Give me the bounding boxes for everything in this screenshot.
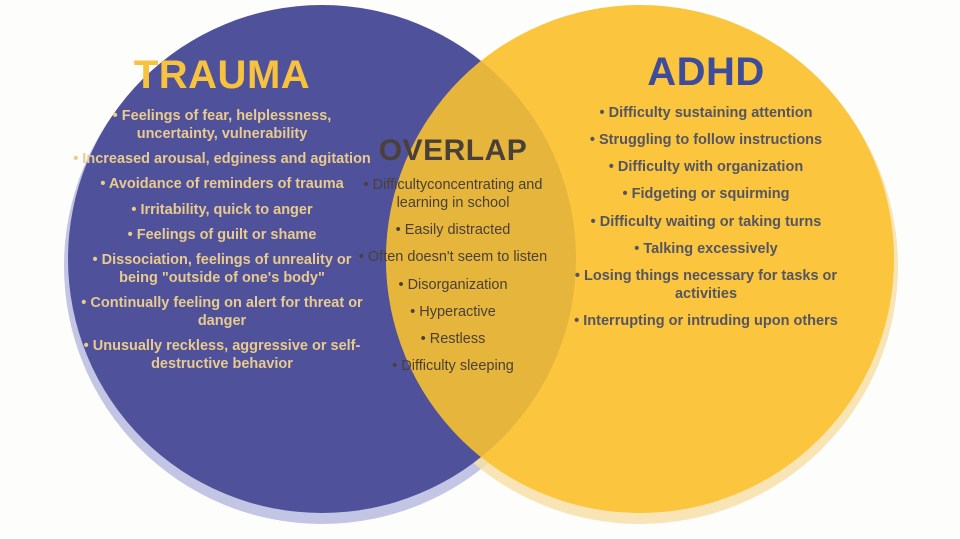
list-item: • Feelings of fear, helplessness, uncert… [72, 107, 372, 143]
trauma-item-list: • Feelings of fear, helplessness, uncert… [72, 107, 372, 374]
list-item: • Struggling to follow instructions [556, 131, 856, 149]
list-item: • Often doesn't seem to listen [355, 248, 551, 266]
list-item: • Easily distracted [355, 221, 551, 239]
list-item: • Avoidance of reminders of trauma [72, 175, 372, 193]
list-item: • Irritability, quick to anger [72, 201, 372, 219]
list-item: • Unusually reckless, aggressive or self… [72, 337, 372, 373]
overlap-item-list: • Difficultyconcentrating and learning i… [355, 176, 551, 375]
list-item: • Restless [355, 330, 551, 348]
trauma-title: TRAUMA [72, 55, 372, 95]
adhd-section: ADHD • Difficulty sustaining attention •… [556, 52, 856, 339]
list-item: • Difficulty with organization [556, 158, 856, 176]
list-item: • Hyperactive [355, 303, 551, 321]
list-item: • Losing things necessary for tasks or a… [556, 267, 856, 303]
adhd-title: ADHD [556, 52, 856, 92]
list-item: • Increased arousal, edginess and agitat… [72, 150, 372, 168]
list-item: • Difficulty sustaining attention [556, 104, 856, 122]
list-item: • Dissociation, feelings of unreality or… [72, 251, 372, 287]
list-item: • Talking excessively [556, 240, 856, 258]
list-item: • Continually feeling on alert for threa… [72, 294, 372, 330]
adhd-item-list: • Difficulty sustaining attention • Stru… [556, 104, 856, 330]
venn-diagram: TRAUMA • Feelings of fear, helplessness,… [0, 0, 960, 539]
list-item: • Difficultyconcentrating and learning i… [355, 176, 551, 212]
list-item: • Difficulty waiting or taking turns [556, 213, 856, 231]
list-item: • Disorganization [355, 276, 551, 294]
trauma-section: TRAUMA • Feelings of fear, helplessness,… [72, 55, 372, 381]
list-item: • Interrupting or intruding upon others [556, 312, 856, 330]
list-item: • Fidgeting or squirming [556, 185, 856, 203]
list-item: • Feelings of guilt or shame [72, 226, 372, 244]
overlap-section: OVERLAP • Difficultyconcentrating and le… [355, 136, 551, 384]
list-item: • Difficulty sleeping [355, 357, 551, 375]
overlap-title: OVERLAP [355, 136, 551, 166]
